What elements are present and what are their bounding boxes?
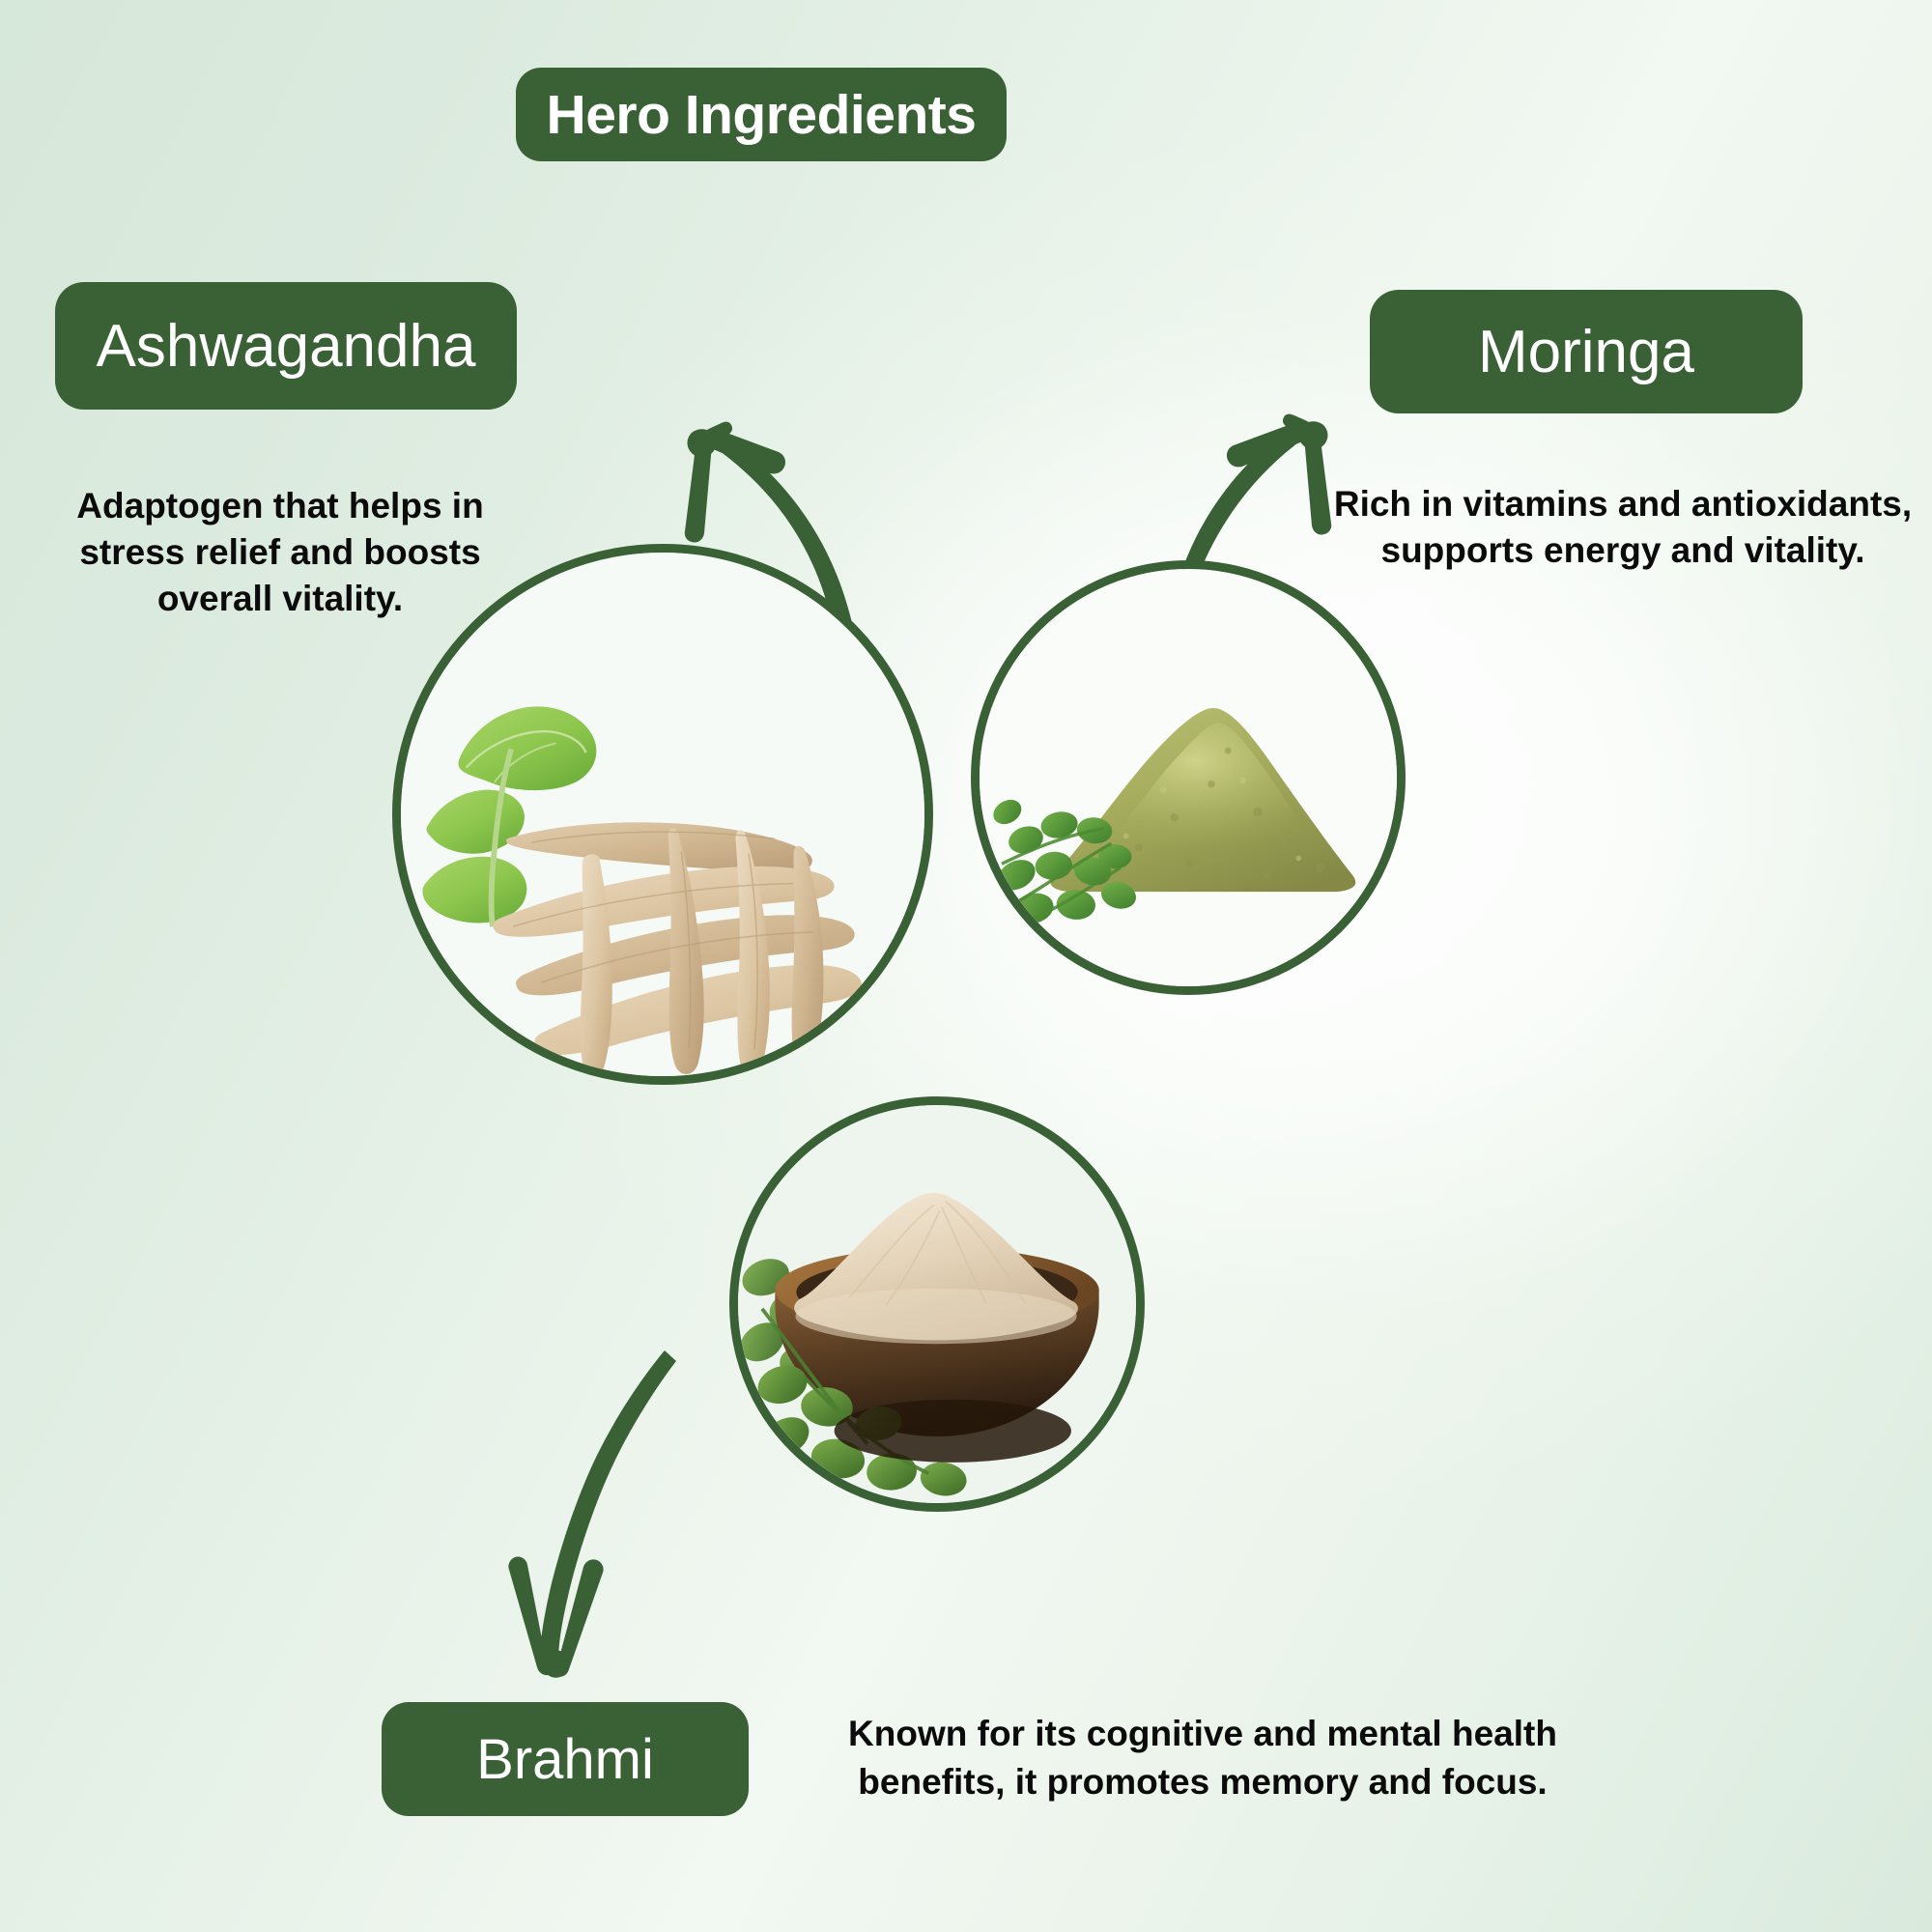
ingredient-name-label: Brahmi [476,1727,654,1792]
ingredient-name-label: Ashwagandha [97,312,476,381]
ingredient-circle-brahmi [729,1096,1145,1512]
page-title-label: Hero Ingredients [547,83,977,147]
ashwagandha-photo [401,553,924,1076]
ingredient-circle-moringa [971,560,1406,995]
arrow-to-brahmi-icon [508,1350,676,1678]
ingredient-badge-moringa: Moringa [1370,290,1803,413]
ingredient-description-moringa: Rich in vitamins and antioxidants, suppo… [1323,481,1922,574]
ingredient-name-label: Moringa [1478,318,1694,386]
ingredient-description-brahmi: Known for its cognitive and mental healt… [773,1710,1633,1805]
moringa-photo [980,569,1397,986]
brahmi-photo [738,1105,1136,1503]
page-title: Hero Ingredients [516,68,1007,161]
ingredient-description-ashwagandha: Adaptogen that helps in stress relief an… [68,483,493,622]
ingredient-badge-brahmi: Brahmi [382,1702,749,1816]
ingredient-circle-ashwagandha [392,544,933,1085]
infographic-canvas: Hero Ingredients Ashwagandha Moringa Bra… [0,0,1932,1932]
ingredient-badge-ashwagandha: Ashwagandha [55,282,517,410]
